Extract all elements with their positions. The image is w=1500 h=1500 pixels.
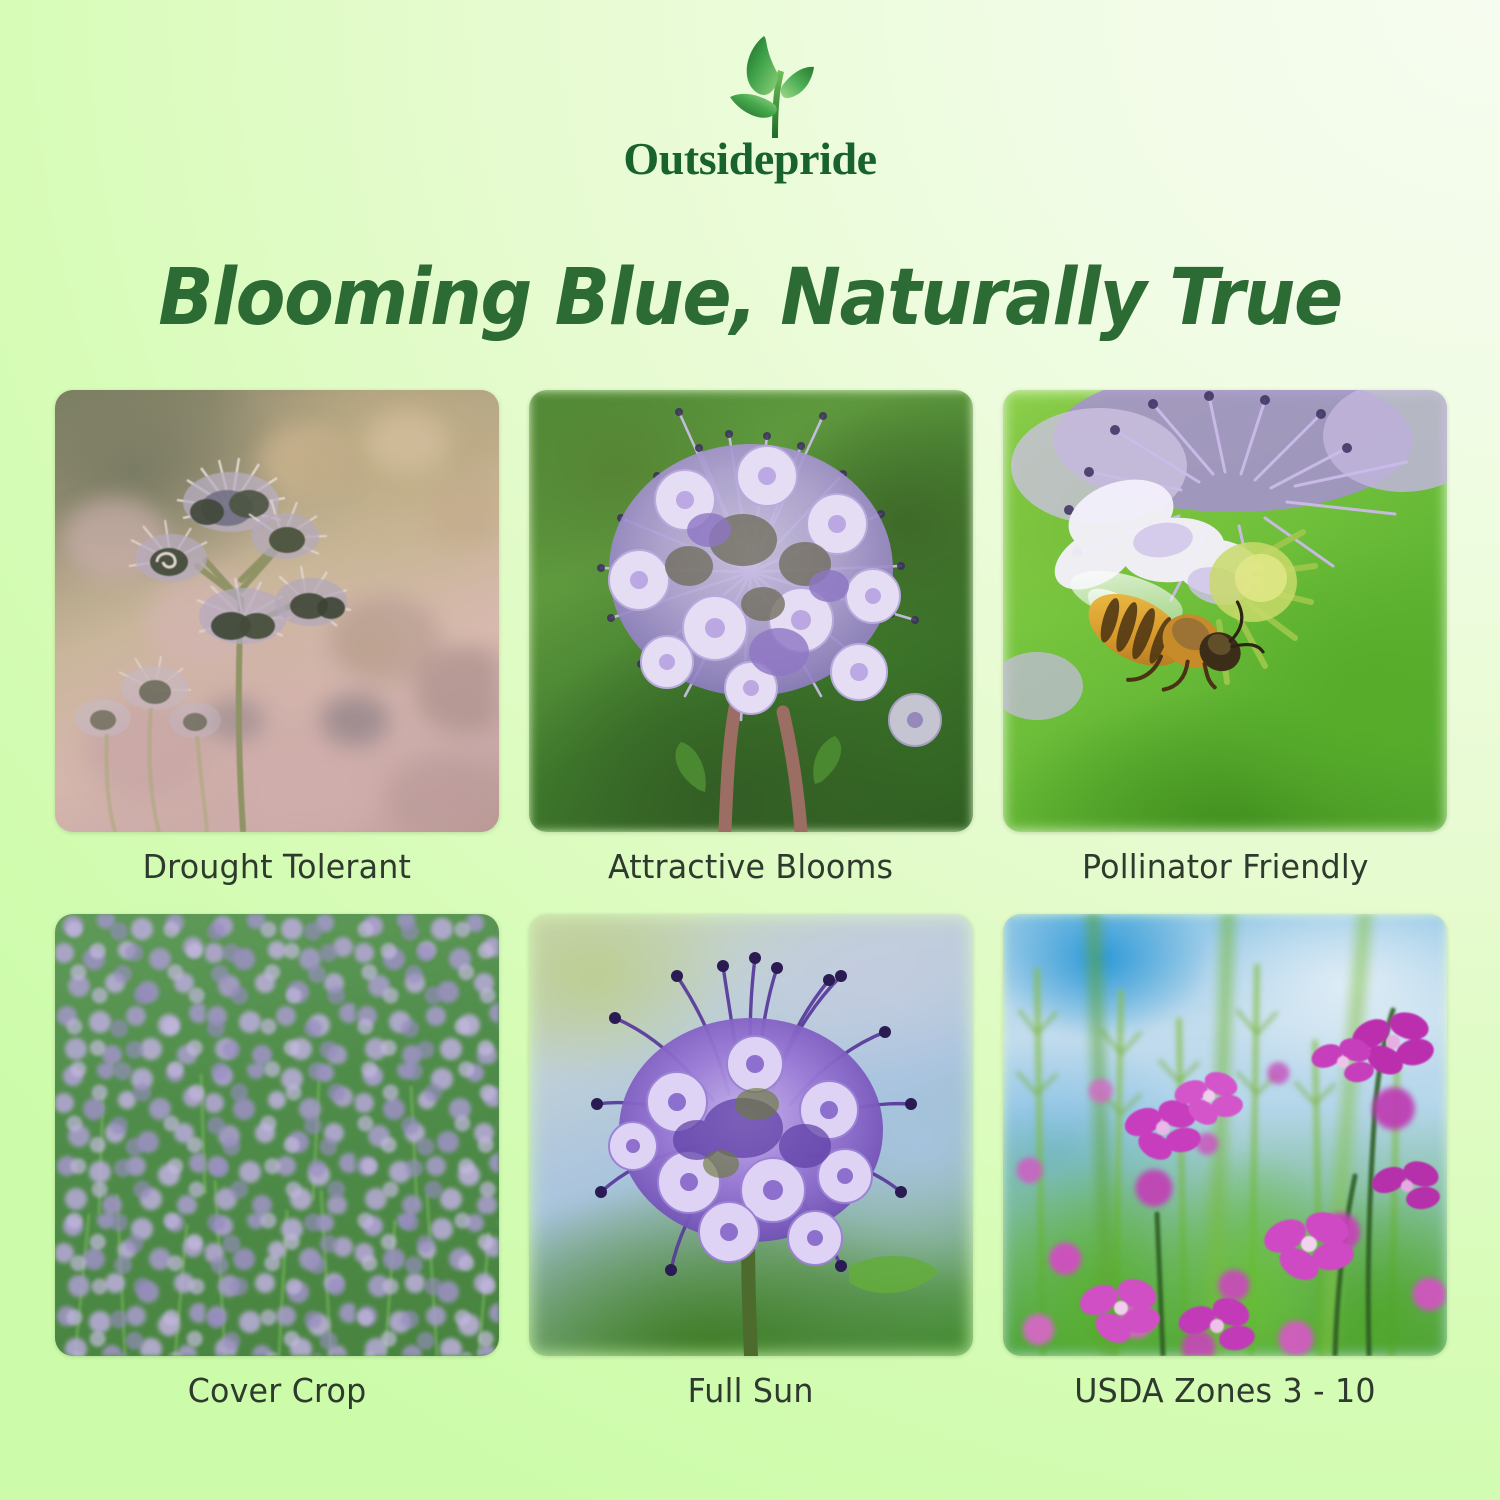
feature-image-cover-crop [55, 914, 499, 1356]
feature-card-usda-zones: USDA Zones 3 - 10 [1003, 914, 1447, 1410]
feature-card-attractive-blooms: Attractive Blooms [529, 390, 973, 886]
page-title: Blooming Blue, Naturally True [53, 258, 1448, 340]
feature-card-full-sun: Full Sun [529, 914, 973, 1410]
brand-wordmark: Outsidepride [623, 136, 876, 182]
feature-caption: Cover Crop [188, 1372, 367, 1410]
leaf-sprig-icon [660, 34, 840, 142]
feature-caption: Pollinator Friendly [1082, 848, 1369, 886]
feature-grid: Drought Tolerant [55, 390, 1447, 1410]
brand-header: Outsidepride [0, 34, 1500, 224]
feature-image-drought-tolerant [55, 390, 499, 832]
feature-image-attractive-blooms [529, 390, 973, 832]
feature-card-drought-tolerant: Drought Tolerant [55, 390, 499, 886]
feature-image-full-sun [529, 914, 973, 1356]
feature-image-pollinator-friendly [1003, 390, 1447, 832]
feature-caption: USDA Zones 3 - 10 [1074, 1372, 1375, 1410]
feature-caption: Attractive Blooms [608, 848, 893, 886]
feature-card-cover-crop: Cover Crop [55, 914, 499, 1410]
feature-image-usda-zones [1003, 914, 1447, 1356]
feature-caption: Full Sun [688, 1372, 814, 1410]
product-feature-poster: Outsidepride Blooming Blue, Naturally Tr… [0, 0, 1500, 1500]
feature-card-pollinator-friendly: Pollinator Friendly [1003, 390, 1447, 886]
feature-caption: Drought Tolerant [143, 848, 412, 886]
